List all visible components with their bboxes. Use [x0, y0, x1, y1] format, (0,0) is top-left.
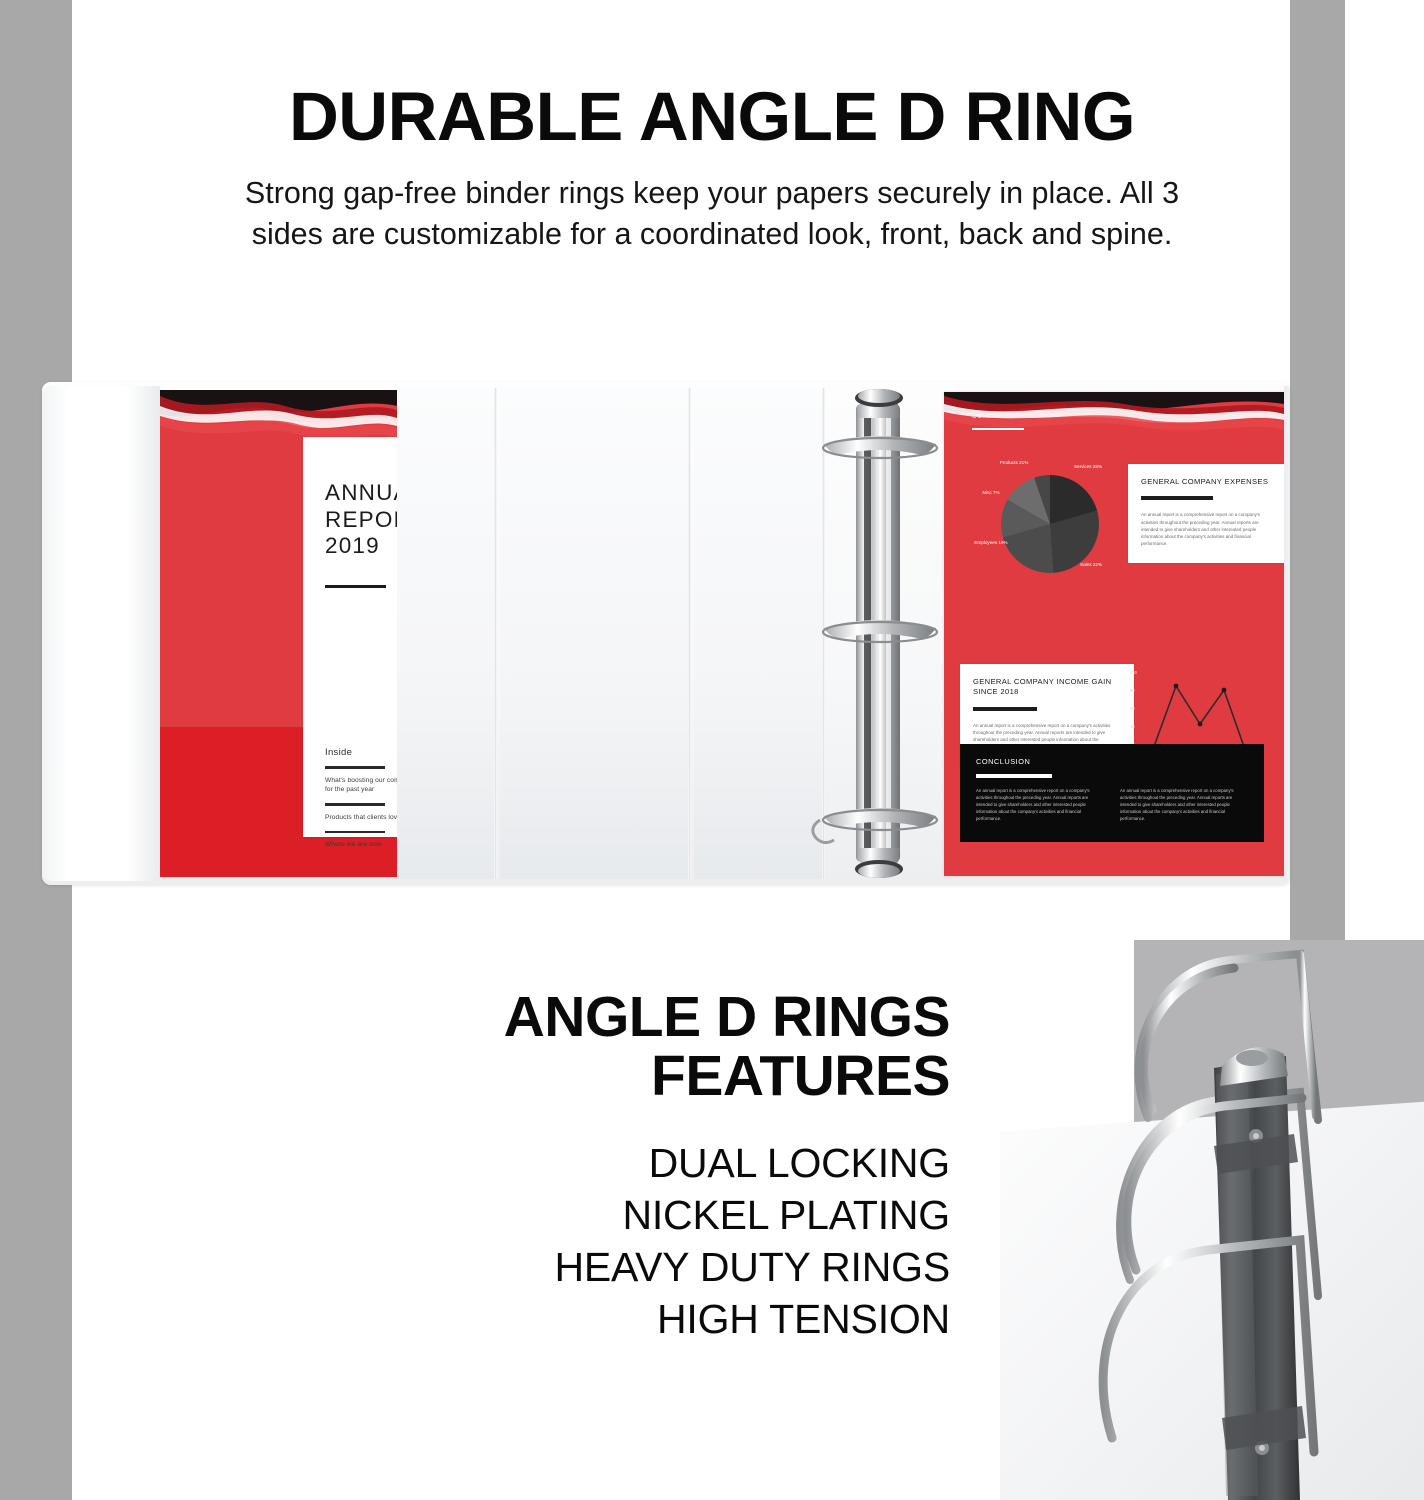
list-item: Where we are now	[325, 840, 397, 850]
binder-front-cover-insert: ANNUAL REPORT 2019 Inside What's boostin…	[160, 390, 397, 877]
panel-divider	[494, 388, 497, 879]
cover-inside-heading: Inside	[325, 747, 397, 758]
y-tick-label: 60	[1130, 706, 1135, 711]
card-title: GENERAL COMPANY EXPENSES	[1141, 477, 1277, 487]
list-item: NICKEL PLATING	[300, 1189, 950, 1241]
inside-rule	[325, 803, 385, 806]
list-item: DUAL LOCKING	[300, 1137, 950, 1189]
product-infographic: DURABLE ANGLE D RING Strong gap-free bin…	[0, 0, 1424, 1500]
binder-left-cover-edge	[42, 386, 160, 881]
conclusion-column-1: An annual report is a comprehensive repo…	[976, 788, 1104, 823]
features-heading-line-2: FEATURES	[300, 1047, 950, 1106]
general-company-expenses-card: GENERAL COMPANY EXPENSES An annual repor…	[1128, 464, 1284, 563]
pie-label: Misc 7%	[978, 490, 1004, 496]
page-title: DURABLE ANGLE D RING	[212, 82, 1212, 151]
pie-label: Products 21%	[996, 460, 1032, 466]
conclusion-rule	[976, 774, 1052, 778]
card-rule	[973, 707, 1037, 711]
features-list: DUAL LOCKING NICKEL PLATING HEAVY DUTY R…	[300, 1137, 950, 1345]
open-binder-photo: ANNUAL REPORT 2019 Inside What's boostin…	[42, 382, 1290, 885]
angle-d-ring-closeup-photo	[1000, 940, 1424, 1500]
cover-white-panel: ANNUAL REPORT 2019 Inside What's boostin…	[303, 437, 397, 837]
pie-label: Services 28%	[1070, 464, 1106, 470]
pie-label: Sales 22%	[1076, 562, 1106, 568]
card-title: GENERAL COMPANY INCOME GAIN SINCE 2018	[973, 677, 1121, 698]
clear-overlay-panel-2	[500, 388, 690, 879]
list-item: Products that clients loved	[325, 813, 397, 823]
y-tick-label: 40	[1130, 724, 1135, 729]
inside-rule	[325, 766, 385, 769]
y-tick-label: 100	[1130, 670, 1137, 675]
hero-subhead: Strong gap-free binder rings keep your p…	[212, 173, 1212, 254]
card-body: An annual report is a comprehensive repo…	[1141, 511, 1277, 547]
cover-title-rule	[325, 585, 386, 588]
expenses-pie-chart: Products 21% Services 28% Sales 22% Empl…	[990, 464, 1110, 584]
conclusion-block: CONCLUSION An annual report is a compreh…	[960, 744, 1264, 842]
list-item: HEAVY DUTY RINGS	[300, 1241, 950, 1293]
pie-label: Employees 16%	[974, 540, 1008, 546]
pie-slices	[1001, 475, 1099, 573]
document-brand-label: COMPANY	[972, 414, 1009, 420]
y-tick-label: 80	[1130, 688, 1135, 693]
card-rule	[1141, 496, 1213, 500]
binder-right-cover-edge	[1284, 386, 1290, 881]
list-item: What's boosting our company's income for…	[325, 776, 397, 796]
clear-overlay-panel-1	[397, 388, 496, 879]
conclusion-column-2: An annual report is a comprehensive repo…	[1120, 788, 1248, 823]
inside-rule	[325, 831, 385, 834]
list-item: HIGH TENSION	[300, 1293, 950, 1345]
features-heading-line-1: ANGLE D RINGS	[300, 988, 950, 1047]
cover-inside-list: Inside What's boosting our company's inc…	[325, 747, 397, 850]
hero-text-block: DURABLE ANGLE D RING Strong gap-free bin…	[212, 82, 1212, 254]
d-ring-closeup-illustration	[1000, 940, 1424, 1500]
panel-divider	[688, 388, 691, 879]
cover-title: ANNUAL REPORT 2019	[325, 480, 397, 560]
document-brand-rule	[972, 428, 1024, 430]
conclusion-title: CONCLUSION	[976, 757, 1248, 766]
binder-back-cover-insert: COMPANY Products 21% Services 28% Sales …	[944, 392, 1284, 876]
features-text-block: ANGLE D RINGS FEATURES DUAL LOCKING NICK…	[300, 988, 950, 1345]
